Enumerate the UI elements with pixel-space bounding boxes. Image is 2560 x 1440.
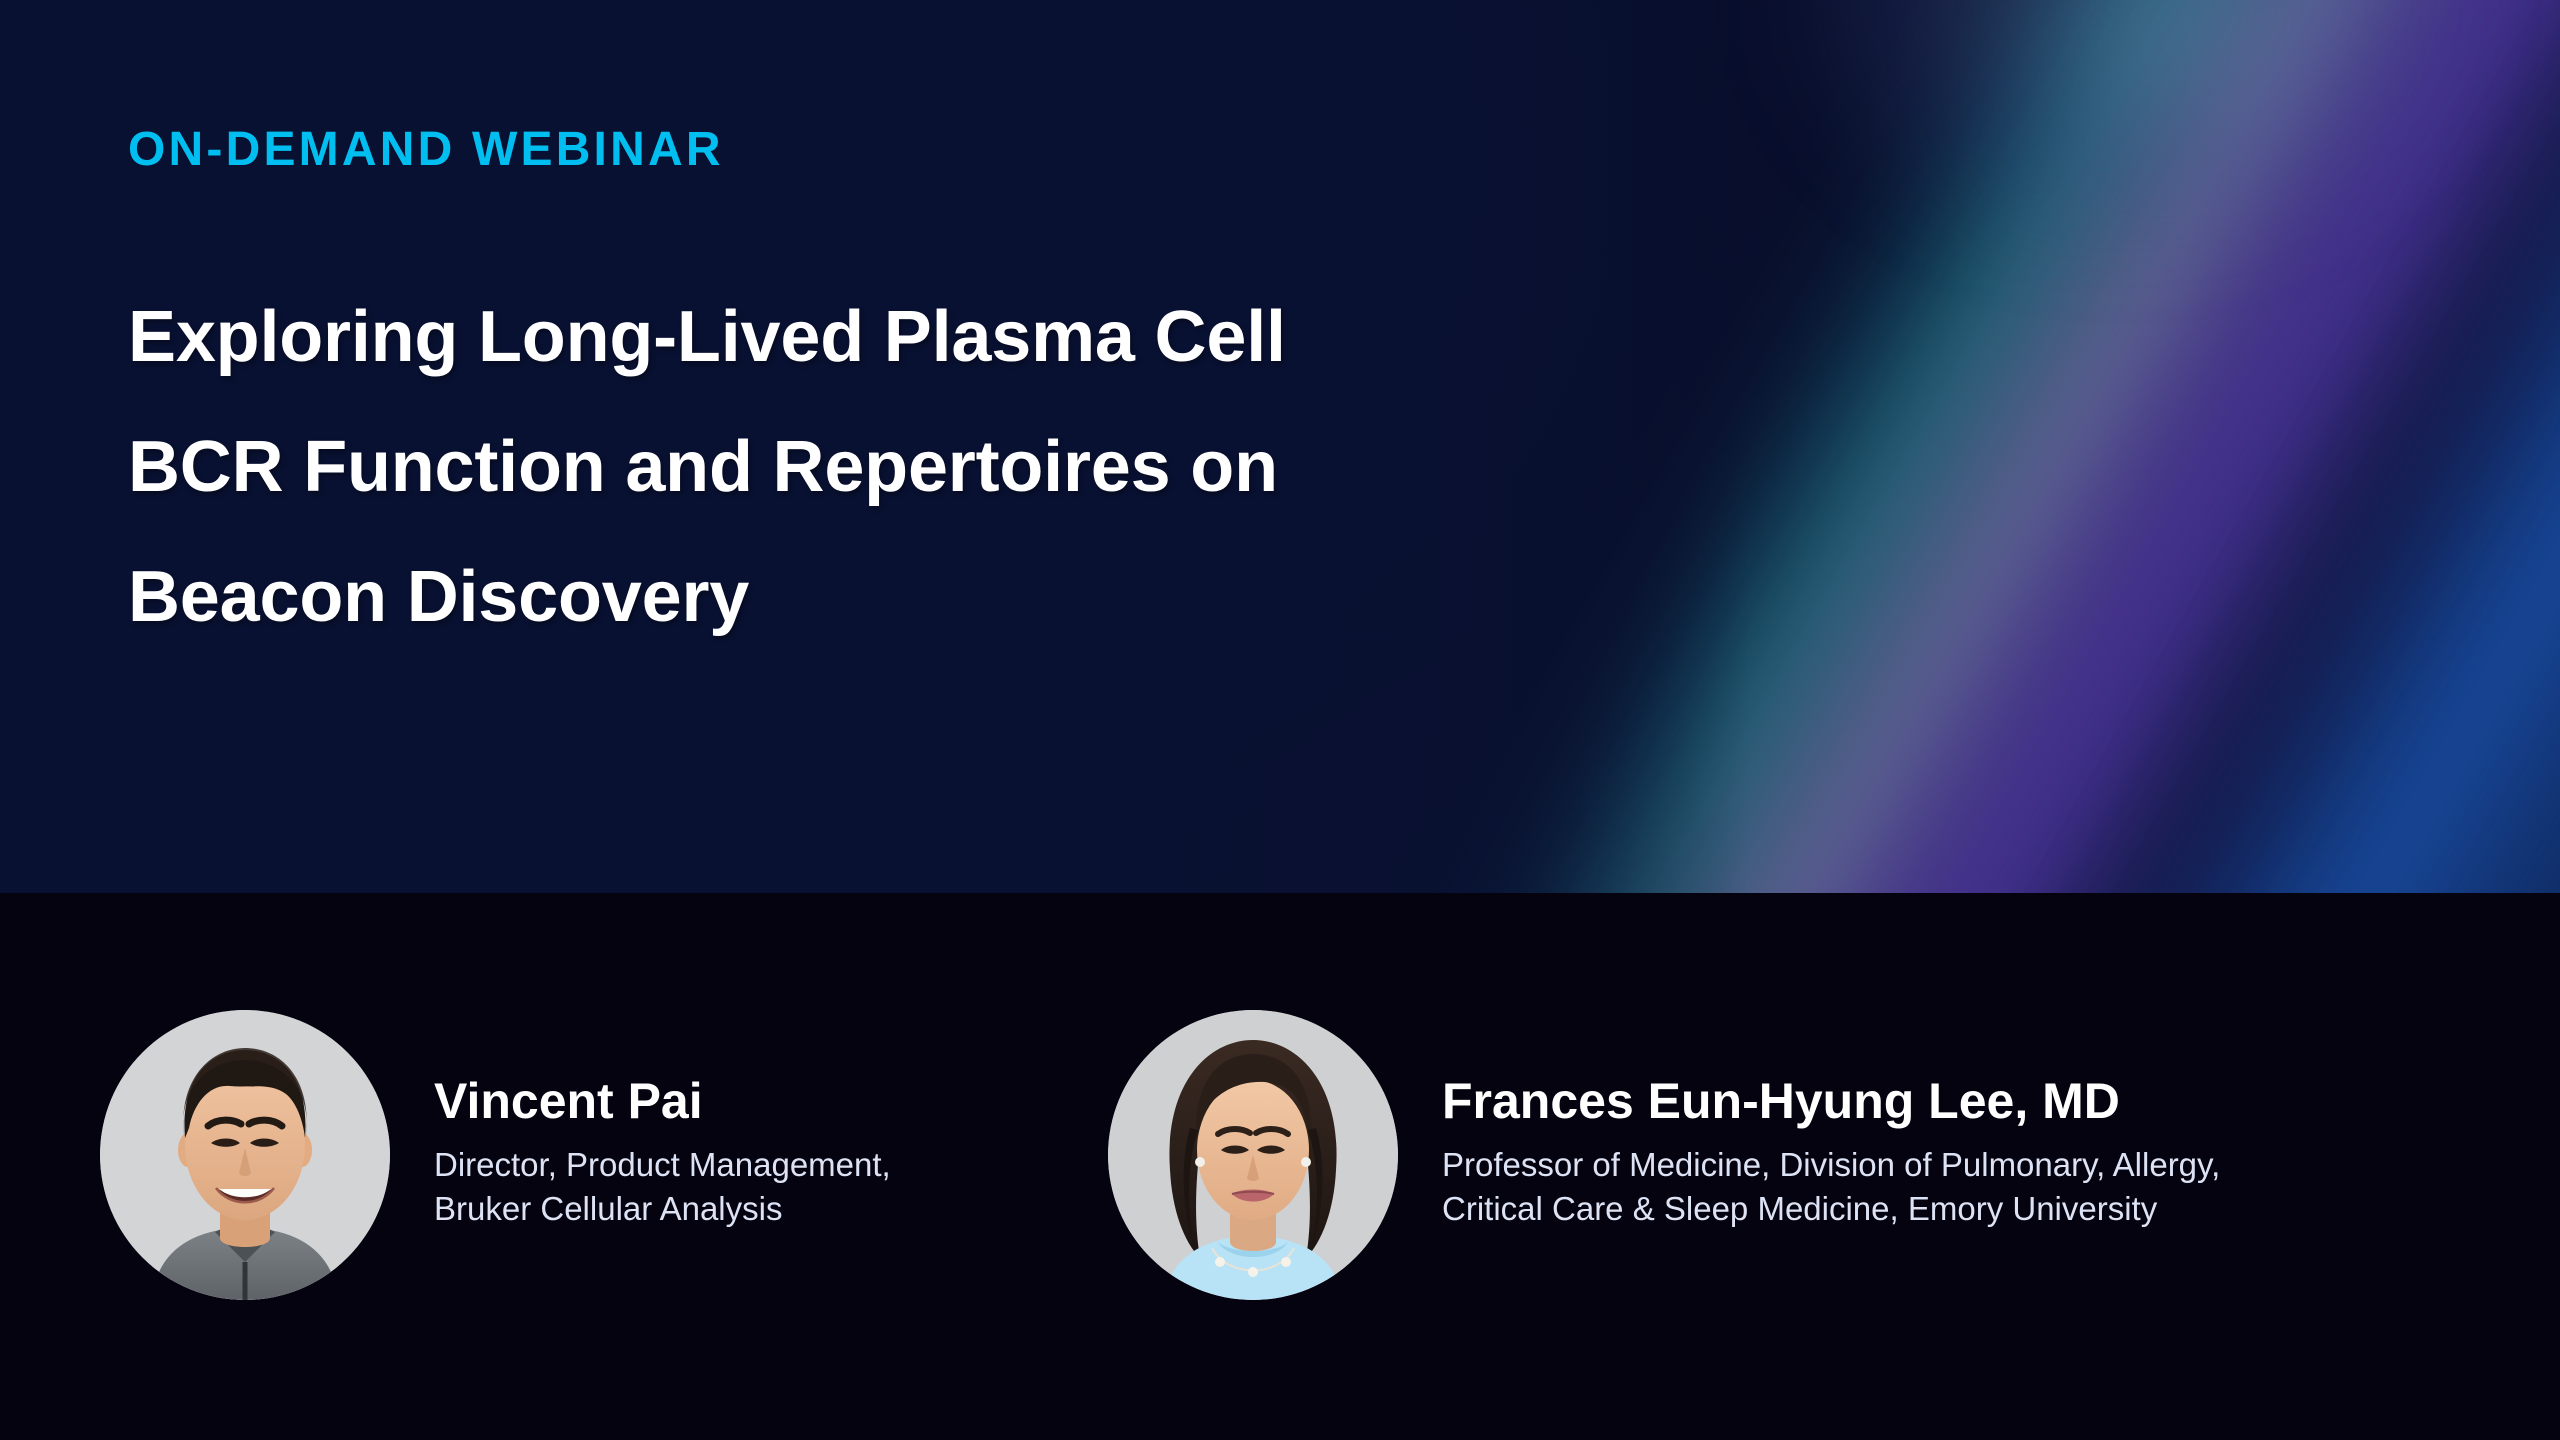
speaker-name: Frances Eun-Hyung Lee, MD xyxy=(1442,1074,2220,1129)
headline-line-1: Exploring Long-Lived Plasma Cell xyxy=(128,272,1286,402)
speaker-title: Director, Product Management, Bruker Cel… xyxy=(434,1143,891,1231)
speaker-title-line-2: Critical Care & Sleep Medicine, Emory Un… xyxy=(1442,1187,2220,1231)
page-title: Exploring Long-Lived Plasma Cell BCR Fun… xyxy=(128,272,1286,662)
headline-line-2: BCR Function and Repertoires on xyxy=(128,402,1286,532)
blue-light-streak xyxy=(1550,0,2560,893)
blue-light-streak-secondary xyxy=(1740,0,2560,893)
avatar xyxy=(1108,1010,1398,1300)
lilac-light-streak xyxy=(1145,0,2560,893)
top-glow-highlight xyxy=(1780,0,2480,260)
speaker-title-line-1: Professor of Medicine, Division of Pulmo… xyxy=(1442,1143,2220,1187)
avatar xyxy=(100,1010,390,1300)
speaker-title-line-1: Director, Product Management, xyxy=(434,1143,891,1187)
speaker-title-line-2: Bruker Cellular Analysis xyxy=(434,1187,891,1231)
speaker-title: Professor of Medicine, Division of Pulmo… xyxy=(1442,1143,2220,1231)
shadow-gap-streak xyxy=(1452,0,2560,893)
webinar-promo-banner: ON-DEMAND WEBINAR Exploring Long-Lived P… xyxy=(0,0,2560,1440)
speaker-card-1: Vincent Pai Director, Product Management… xyxy=(100,1010,891,1300)
headline-line-3: Beacon Discovery xyxy=(128,532,1286,662)
violet-light-streak xyxy=(1233,0,2560,893)
speaker-name: Vincent Pai xyxy=(434,1074,891,1129)
speaker-card-2: Frances Eun-Hyung Lee, MD Professor of M… xyxy=(1108,1010,2220,1300)
eyebrow-label: ON-DEMAND WEBINAR xyxy=(128,122,724,177)
speaker-info: Vincent Pai Director, Product Management… xyxy=(434,1074,891,1237)
speaker-info: Frances Eun-Hyung Lee, MD Professor of M… xyxy=(1442,1074,2220,1237)
